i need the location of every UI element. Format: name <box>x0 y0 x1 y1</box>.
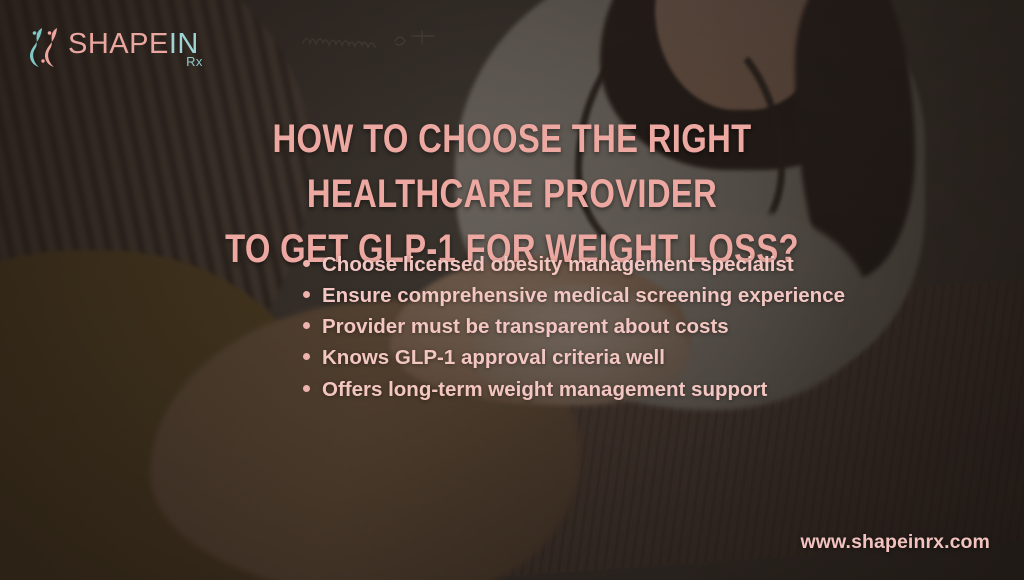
double-swoosh-icon <box>26 24 66 72</box>
poster-content: SHAPEIN Rx HOW TO CHOOSE THE RIGHT HEALT… <box>0 0 1024 580</box>
list-item: Provider must be transparent about costs <box>296 312 896 342</box>
list-item: Choose licensed obesity management speci… <box>296 250 896 280</box>
brand-name-part1: SHAPE <box>68 28 169 60</box>
benefits-list: Choose licensed obesity management speci… <box>296 250 896 406</box>
list-item: Knows GLP-1 approval criteria well <box>296 343 896 373</box>
brand-logo[interactable]: SHAPEIN Rx <box>26 24 199 72</box>
list-item: Ensure comprehensive medical screening e… <box>296 281 896 311</box>
brand-wordmark: SHAPEIN Rx <box>68 24 199 59</box>
poster-canvas: SHAPEIN Rx HOW TO CHOOSE THE RIGHT HEALT… <box>0 0 1024 580</box>
list-item: Offers long-term weight management suppo… <box>296 375 896 405</box>
page-title-line-1: HOW TO CHOOSE THE RIGHT HEALTHCARE PROVI… <box>273 117 752 216</box>
brand-superscript-rx: Rx <box>186 54 203 69</box>
website-url[interactable]: www.shapeinrx.com <box>800 531 990 554</box>
